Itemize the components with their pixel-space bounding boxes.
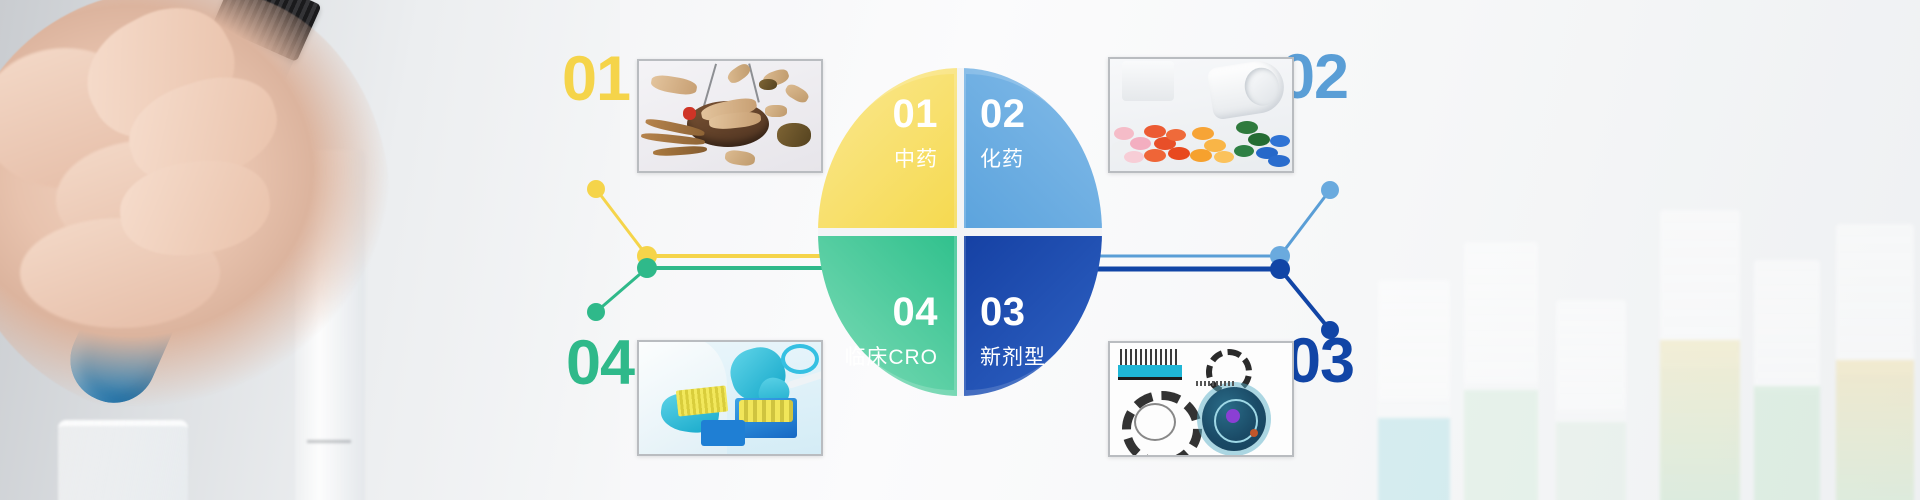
outer-number-04: 04 — [566, 332, 634, 395]
outer-number-01: 01 — [562, 48, 630, 111]
four-quadrant-pie-chart: 01 中药 02 化药 03 新剂型 04 临床CRO — [818, 68, 1102, 396]
quadrant-number: 04 — [893, 292, 939, 332]
pie-quadrant-04[interactable]: 04 临床CRO — [818, 232, 960, 396]
quadrant-label: 化药 — [980, 143, 1024, 173]
quadrant-label: 临床CRO — [844, 341, 938, 371]
quadrant-number: 02 — [980, 94, 1026, 134]
pie-quadrant-03[interactable]: 03 新剂型 — [960, 232, 1102, 396]
quadrant-number: 03 — [980, 292, 1026, 332]
thumbnail-lab-pipetting[interactable] — [637, 340, 823, 456]
pie-quadrant-01[interactable]: 01 中药 — [818, 68, 960, 232]
quadrant-number: 01 — [893, 94, 939, 134]
pie-horizontal-gap — [818, 228, 1102, 236]
chinese-herbs-photo — [639, 61, 821, 171]
quadrant-label: 中药 — [894, 143, 938, 173]
pie-quadrant-02[interactable]: 02 化药 — [960, 68, 1102, 232]
lab-technician-photo — [639, 342, 821, 454]
banner-stage: 01 中药 02 化药 03 新剂型 04 临床CRO 01 02 03 04 — [0, 0, 1920, 500]
nanoparticle-diagram-image — [1110, 343, 1292, 455]
thumbnail-chinese-herbal-medicine[interactable] — [637, 59, 823, 173]
thumbnail-liposome-diagram[interactable] — [1108, 341, 1294, 457]
thumbnail-pills-and-bottle[interactable] — [1108, 57, 1294, 173]
outer-number-03: 03 — [1286, 330, 1354, 393]
colored-pills-photo — [1110, 59, 1292, 171]
quadrant-label: 新剂型 — [980, 341, 1046, 371]
